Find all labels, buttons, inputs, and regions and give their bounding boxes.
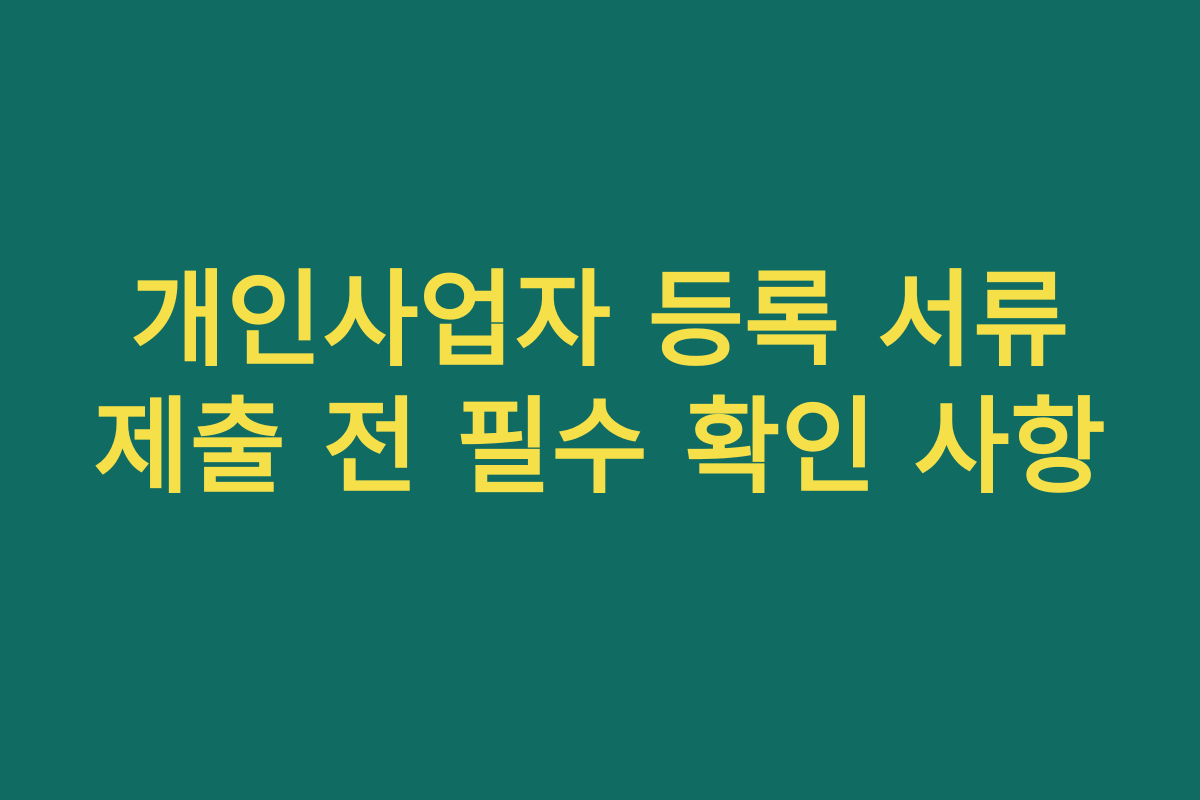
headline-block: 개인사업자 등록 서류 제출 전 필수 확인 사항 (70, 257, 1130, 511)
banner-canvas: 개인사업자 등록 서류 제출 전 필수 확인 사항 (0, 0, 1200, 800)
page-title: 개인사업자 등록 서류 제출 전 필수 확인 사항 (70, 257, 1130, 511)
